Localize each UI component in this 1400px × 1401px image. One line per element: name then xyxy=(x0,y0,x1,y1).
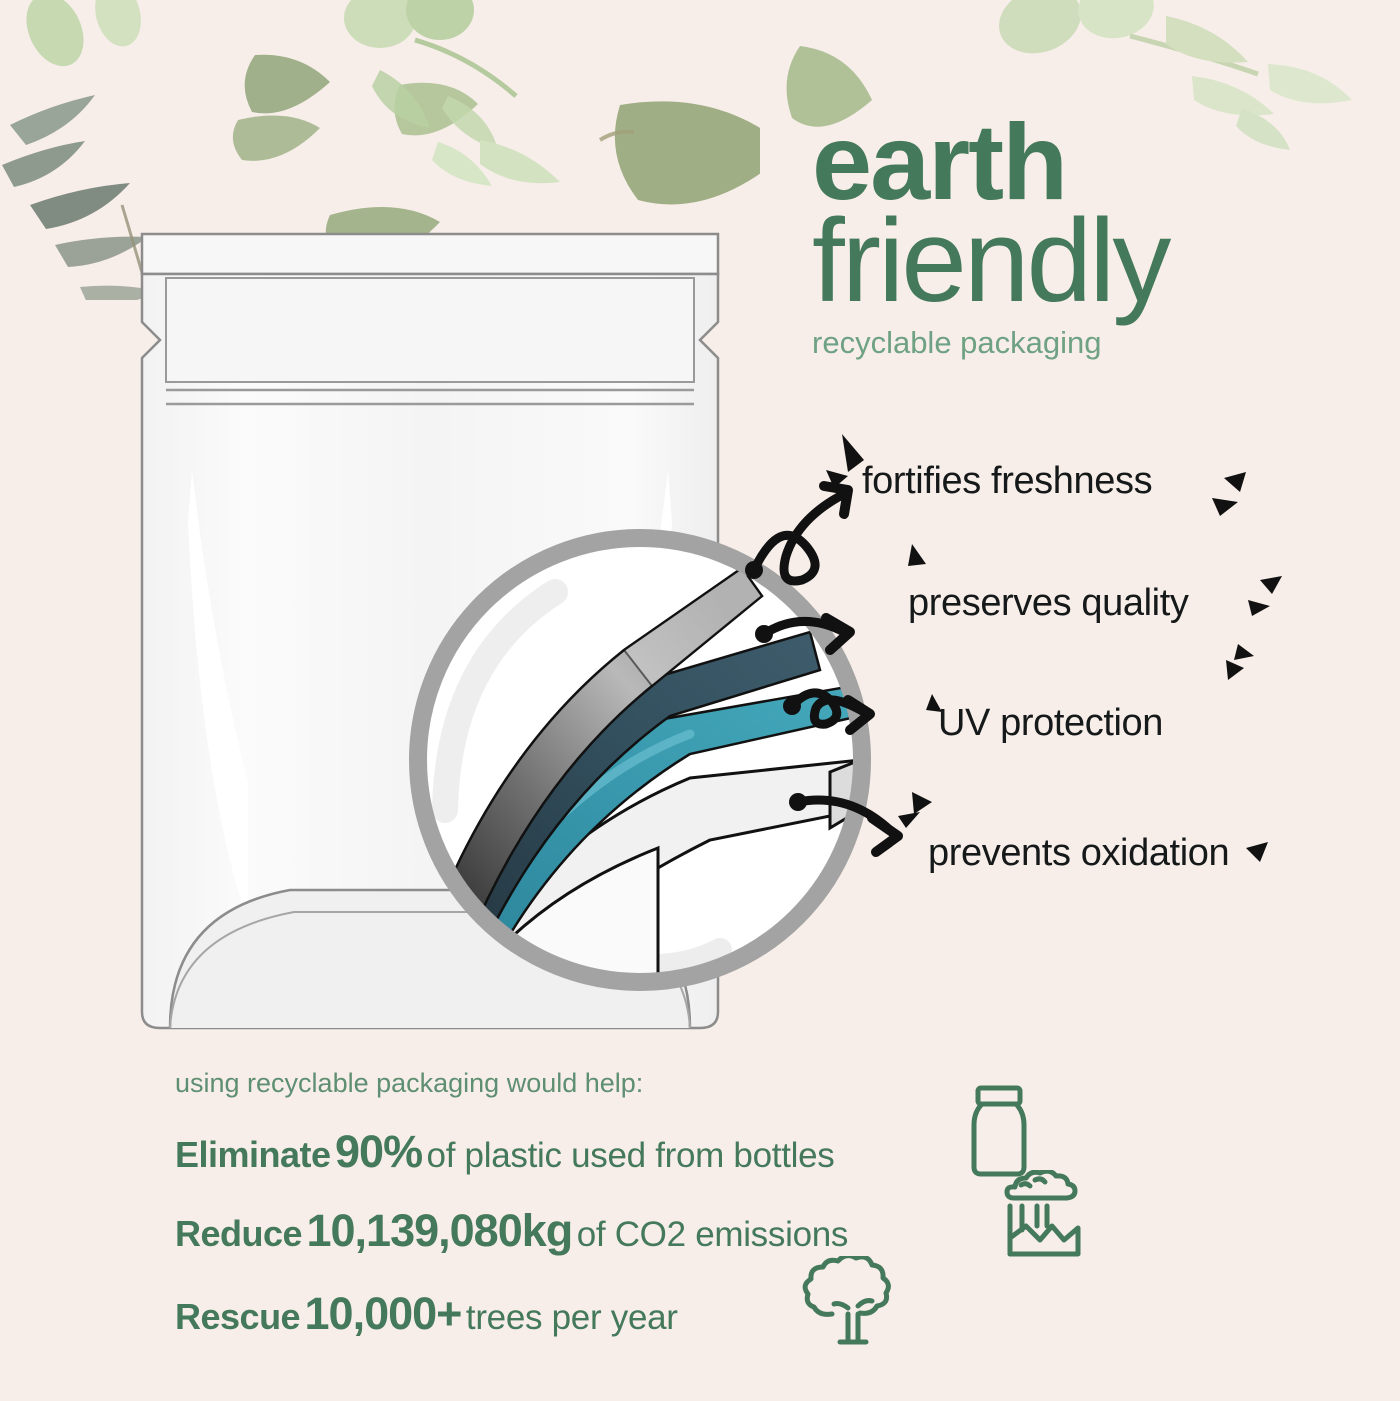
stat-lead: Reduce xyxy=(175,1213,302,1254)
feature-label-prevents-oxidation: prevents oxidation xyxy=(928,832,1229,875)
stat-row-eliminate: Eliminate 90% of plastic used from bottl… xyxy=(175,1126,834,1178)
stat-row-reduce: Reduce 10,139,080kg of CO2 emissions xyxy=(175,1205,848,1257)
stat-lead: Rescue xyxy=(175,1296,300,1337)
stat-lead: Eliminate xyxy=(175,1134,331,1175)
bottle-icon xyxy=(968,1085,1030,1177)
tree-icon xyxy=(802,1256,904,1352)
stat-row-rescue: Rescue 10,000+ trees per year xyxy=(175,1288,678,1340)
stat-value: 90% xyxy=(335,1126,422,1177)
feature-label-uv-protection: UV protection xyxy=(938,702,1163,745)
watercolor-leaf-spray-right xyxy=(320,0,880,200)
page-subtitle: recyclable packaging xyxy=(812,325,1372,361)
headline-block: earth friendly recyclable packaging xyxy=(812,112,1372,361)
factory-icon xyxy=(1000,1170,1082,1258)
stat-value: 10,139,080kg xyxy=(307,1205,573,1256)
infographic-canvas: earth friendly recyclable packaging fort… xyxy=(0,0,1400,1401)
stats-intro-text: using recyclable packaging would help: xyxy=(175,1068,643,1099)
page-title-line2: friendly xyxy=(812,205,1372,317)
stat-value: 10,000+ xyxy=(305,1288,462,1339)
feature-label-fortifies-freshness: fortifies freshness xyxy=(862,460,1152,503)
stat-tail: trees per year xyxy=(466,1298,678,1337)
stat-tail: of plastic used from bottles xyxy=(427,1136,835,1175)
stat-tail: of CO2 emissions xyxy=(577,1215,848,1254)
feature-label-preserves-quality: preserves quality xyxy=(908,582,1188,625)
